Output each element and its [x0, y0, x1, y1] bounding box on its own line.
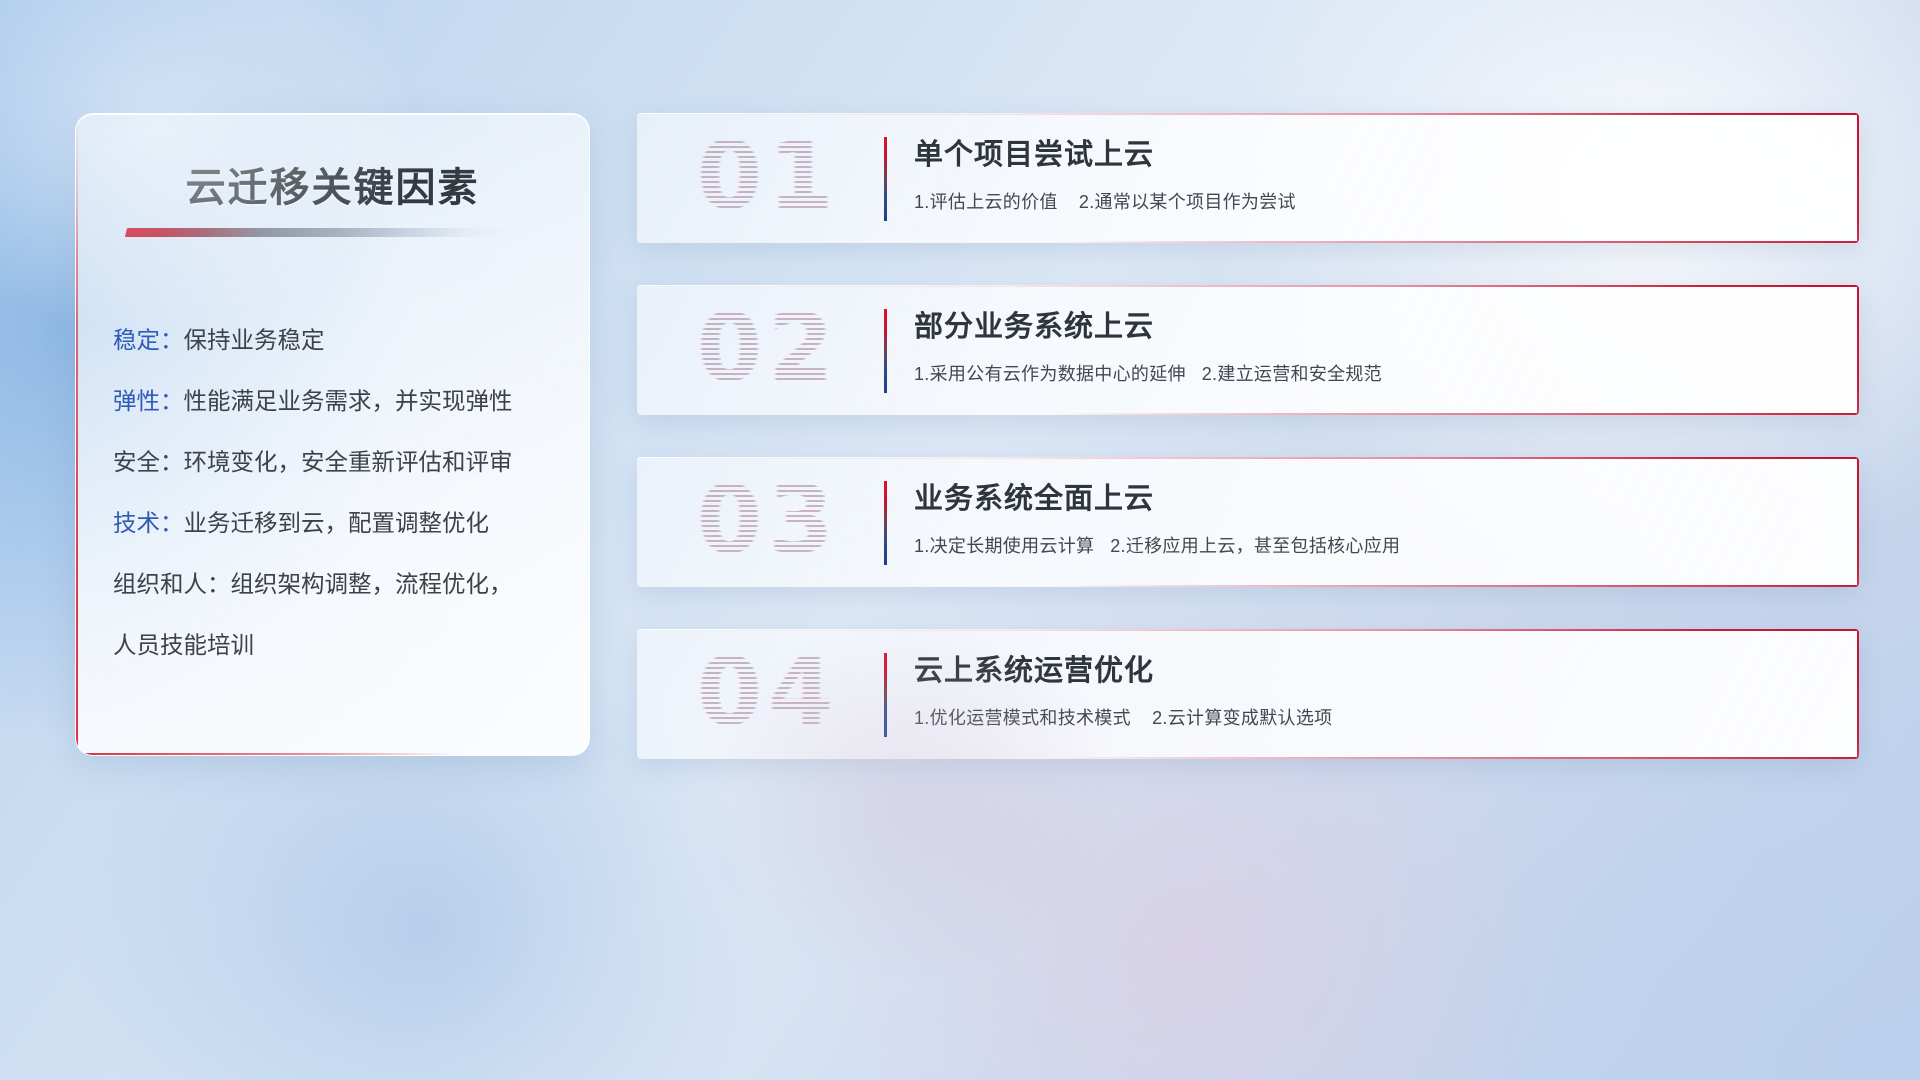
factor-label: 技术： — [113, 510, 184, 536]
stage-number-watermark-shadow: 02 — [657, 285, 877, 415]
stage-title: 业务系统全面上云 — [914, 479, 1829, 519]
slide-canvas: 云迁移关键因素 稳定：保持业务稳定 弹性：性能满足业务需求，并实现弹性 安全：环… — [0, 0, 1920, 1080]
factor-text: 组织架构调整，流程优化， — [231, 571, 513, 597]
stage-description: 1.评估上云的价值 2.通常以某个项目作为尝试 — [914, 189, 1829, 215]
card-right-accent-line — [1857, 113, 1859, 243]
stage-number-watermark: 04 04 — [659, 629, 879, 759]
page-title: 云迁移关键因素 — [76, 155, 589, 213]
card-right-accent-line — [1857, 285, 1859, 415]
factor-text: 环境变化，安全重新评估和评审 — [184, 449, 513, 475]
factor-text: 性能满足业务需求，并实现弹性 — [184, 388, 513, 414]
factor-text: 保持业务稳定 — [184, 327, 325, 353]
stage-number-watermark-shadow: 04 — [657, 629, 877, 759]
stage-accent-bar — [884, 653, 887, 737]
stage-title: 部分业务系统上云 — [914, 307, 1829, 347]
factor-label: 稳定： — [113, 327, 184, 353]
factor-label: 组织和人： — [113, 571, 231, 597]
card-bottom-accent-line — [1052, 757, 1859, 759]
stage-card-01[interactable]: 01 01 单个项目尝试上云 1.评估上云的价值 2.通常以某个项目作为尝试 — [637, 113, 1859, 243]
stage-content: 业务系统全面上云 1.决定长期使用云计算 2.迁移应用上云，甚至包括核心应用 — [914, 479, 1829, 559]
factor-label: 弹性： — [113, 388, 184, 414]
stage-content: 单个项目尝试上云 1.评估上云的价值 2.通常以某个项目作为尝试 — [914, 135, 1829, 215]
title-underline-accent — [125, 228, 512, 237]
stage-accent-bar — [884, 481, 887, 565]
stage-accent-bar — [884, 309, 887, 393]
card-right-accent-line — [1857, 629, 1859, 759]
factor-row-organization: 组织和人：组织架构调整，流程优化， — [113, 554, 569, 615]
stage-content: 部分业务系统上云 1.采用公有云作为数据中心的延伸 2.建立运营和安全规范 — [914, 307, 1829, 387]
card-right-accent-line — [1857, 457, 1859, 587]
stage-description: 1.采用公有云作为数据中心的延伸 2.建立运营和安全规范 — [914, 361, 1829, 387]
key-factors-panel: 云迁移关键因素 稳定：保持业务稳定 弹性：性能满足业务需求，并实现弹性 安全：环… — [75, 113, 590, 756]
factor-row-stability: 稳定：保持业务稳定 — [113, 310, 569, 371]
stage-description: 1.决定长期使用云计算 2.迁移应用上云，甚至包括核心应用 — [914, 533, 1829, 559]
card-bottom-accent-line — [1052, 585, 1859, 587]
stage-content: 云上系统运营优化 1.优化运营模式和技术模式 2.云计算变成默认选项 — [914, 651, 1829, 731]
factor-row-organization-continuation: 人员技能培训 — [113, 615, 569, 676]
stage-number-watermark: 01 01 — [659, 113, 879, 243]
factor-row-elasticity: 弹性：性能满足业务需求，并实现弹性 — [113, 371, 569, 432]
stage-number-watermark-shadow: 03 — [657, 457, 877, 587]
factor-label: 安全： — [113, 449, 184, 475]
stage-number-watermark: 03 03 — [659, 457, 879, 587]
stage-number-watermark-shadow: 01 — [657, 113, 877, 243]
factor-text: 业务迁移到云，配置调整优化 — [184, 510, 490, 536]
stage-card-03[interactable]: 03 03 业务系统全面上云 1.决定长期使用云计算 2.迁移应用上云，甚至包括… — [637, 457, 1859, 587]
card-bottom-accent-line — [1052, 241, 1859, 243]
stage-accent-bar — [884, 137, 887, 221]
stage-card-02[interactable]: 02 02 部分业务系统上云 1.采用公有云作为数据中心的延伸 2.建立运营和安… — [637, 285, 1859, 415]
stage-number-watermark: 02 02 — [659, 285, 879, 415]
stage-title: 云上系统运营优化 — [914, 651, 1829, 691]
card-bottom-accent-line — [1052, 413, 1859, 415]
stage-card-04[interactable]: 04 04 云上系统运营优化 1.优化运营模式和技术模式 2.云计算变成默认选项 — [637, 629, 1859, 759]
factor-row-security: 安全：环境变化，安全重新评估和评审 — [113, 432, 569, 493]
stage-description: 1.优化运营模式和技术模式 2.云计算变成默认选项 — [914, 705, 1829, 731]
key-factors-list: 稳定：保持业务稳定 弹性：性能满足业务需求，并实现弹性 安全：环境变化，安全重新… — [113, 310, 569, 676]
stage-title: 单个项目尝试上云 — [914, 135, 1829, 175]
migration-stages-list: 01 01 单个项目尝试上云 1.评估上云的价值 2.通常以某个项目作为尝试 0… — [637, 113, 1859, 759]
factor-row-technology: 技术：业务迁移到云，配置调整优化 — [113, 493, 569, 554]
